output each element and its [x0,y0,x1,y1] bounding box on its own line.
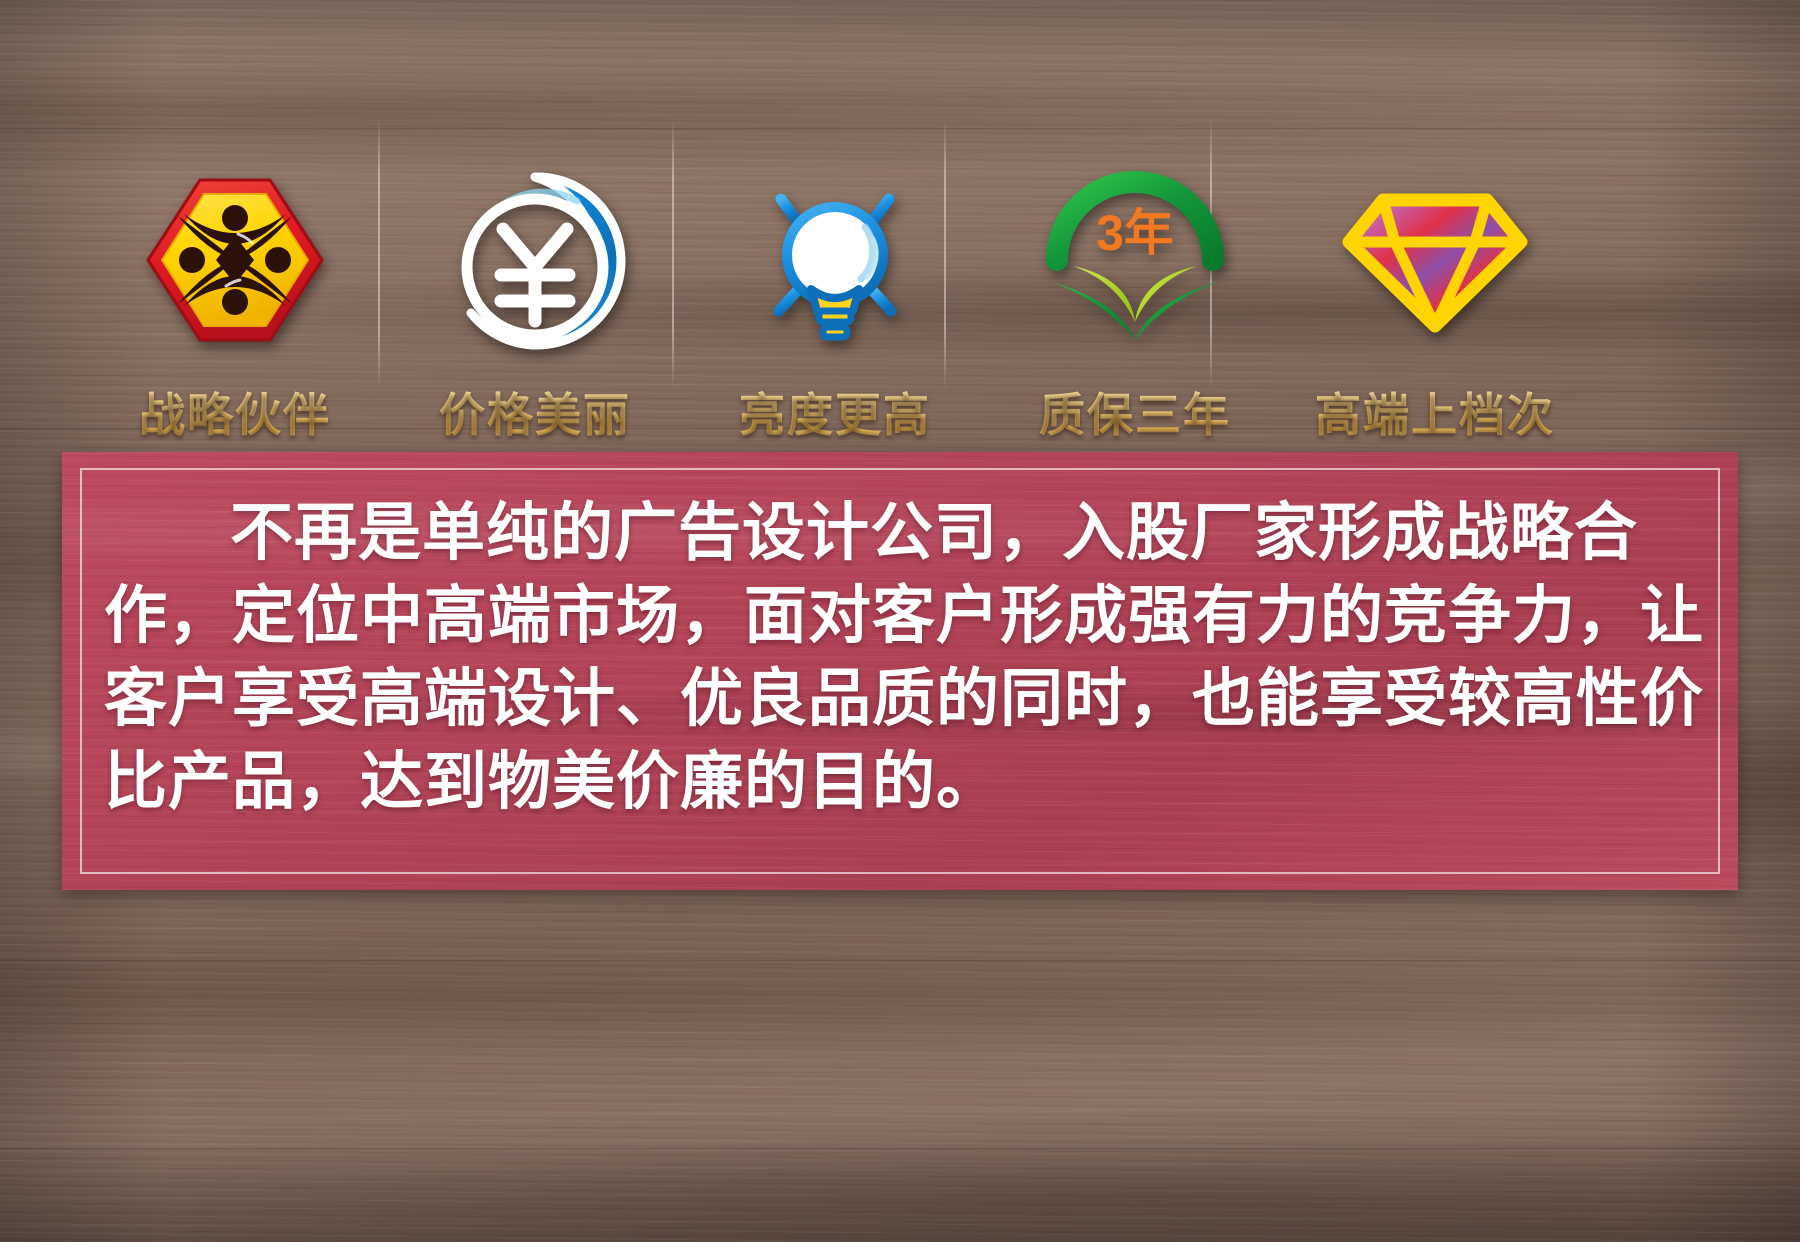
panel-line: 比产品，达到物美价廉的目的。 [104,741,1696,824]
feature-item-brightness[interactable]: 亮度更高 [685,0,985,445]
feature-item-premium[interactable]: 高端上档次 [1285,0,1585,445]
diamond-gem-icon [1315,155,1555,365]
feature-list: 战略伙伴 [0,0,1800,430]
panel-line: 作，定位中高端市场，面对客户形成强有力的竞争力，让 [104,575,1696,658]
panel-line: 不再是单纯的广告设计公司，入股厂家形成战略合 [104,492,1696,575]
feature-label: 价格美丽 [439,379,631,445]
feature-label: 高端上档次 [1315,379,1555,445]
lightbulb-icon [715,155,955,365]
warranty-3-year-icon: 3年 [1015,155,1255,365]
feature-label: 质保三年 [1039,379,1231,445]
feature-label: 战略伙伴 [139,379,331,445]
yuan-crescent-icon [415,155,655,365]
feature-item-warranty[interactable]: 3年 质保三年 [985,0,1285,445]
plank-seam [0,960,1800,963]
warranty-badge-text: 3年 [1096,205,1174,261]
description-panel: 不再是单纯的广告设计公司，入股厂家形成战略合 作，定位中高端市场，面对客户形成强… [62,452,1738,890]
panel-paragraph: 不再是单纯的广告设计公司，入股厂家形成战略合 作，定位中高端市场，面对客户形成强… [104,492,1696,825]
feature-item-strategic-partner[interactable]: 战略伙伴 [85,0,385,445]
panel-line: 客户享受高端设计、优良品质的同时，也能享受较高性价 [104,658,1696,741]
feature-label: 亮度更高 [739,379,931,445]
feature-item-good-price[interactable]: 价格美丽 [385,0,685,445]
poster-canvas: 战略伙伴 [0,0,1800,1242]
hexagon-partners-icon [115,155,355,365]
plank-seam [0,1148,1800,1151]
